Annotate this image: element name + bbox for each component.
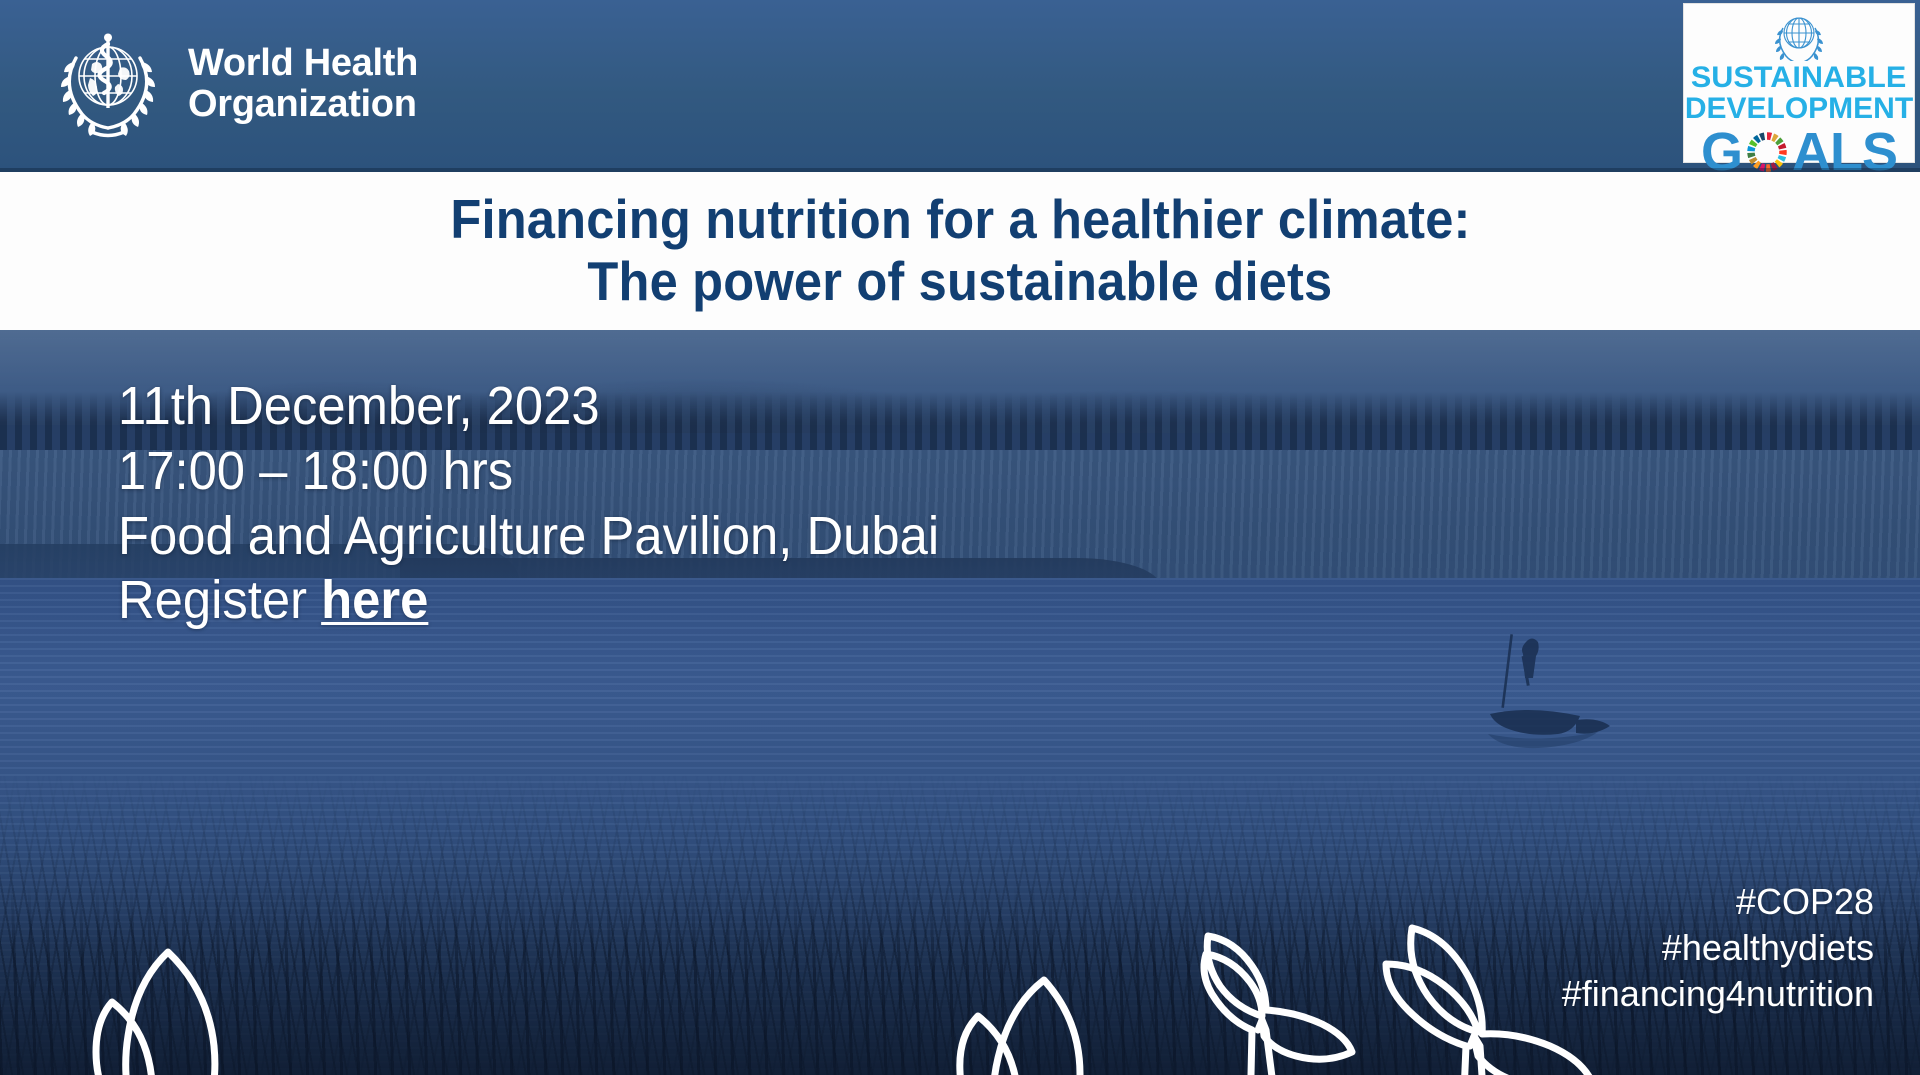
register-label: Register <box>118 570 321 630</box>
event-time: 17:00 – 18:00 hrs <box>118 439 939 504</box>
hashtag-financing4nutrition: #financing4nutrition <box>1562 971 1874 1017</box>
who-name-line1: World Health <box>188 43 418 84</box>
overlay-content-layer: 11th December, 2023 17:00 – 18:00 hrs Fo… <box>0 330 1920 1075</box>
event-venue: Food and Agriculture Pavilion, Dubai <box>118 504 939 569</box>
header-band: World Health Organization <box>0 0 1920 172</box>
sdg-goals-wordmark: G <box>1701 125 1897 172</box>
event-details: 11th December, 2023 17:00 – 18:00 hrs Fo… <box>118 374 992 633</box>
register-line: Register here <box>118 568 939 633</box>
hashtag-list: #COP28 #healthydiets #financing4nutritio… <box>1562 879 1874 1017</box>
sdg-goals-rest: ALS <box>1792 125 1897 172</box>
title-band: Financing nutrition for a healthier clim… <box>0 172 1920 330</box>
register-here-link[interactable]: here <box>321 570 428 630</box>
page-title-line1: Financing nutrition for a healthier clim… <box>450 189 1470 251</box>
who-name-line2: Organization <box>188 84 418 125</box>
who-emblem-icon <box>48 24 168 144</box>
who-wordmark: World Health Organization <box>188 43 418 125</box>
page-title-line2: The power of sustainable diets <box>588 251 1333 313</box>
sdg-logo: SUSTAINABLE DEVELOPMENT G <box>1683 3 1915 163</box>
un-emblem-icon <box>1769 9 1829 61</box>
sdg-color-wheel-icon <box>1743 128 1791 172</box>
hashtag-cop28: #COP28 <box>1562 879 1874 925</box>
sdg-line-sustainable: SUSTAINABLE <box>1691 63 1906 93</box>
who-logo: World Health Organization <box>48 24 418 144</box>
sdg-goals-g: G <box>1701 125 1742 172</box>
event-promo-slide: World Health Organization <box>0 0 1920 1075</box>
hashtag-healthydiets: #healthydiets <box>1562 925 1874 971</box>
event-date: 11th December, 2023 <box>118 374 939 439</box>
sdg-line-development: DEVELOPMENT <box>1685 94 1913 124</box>
